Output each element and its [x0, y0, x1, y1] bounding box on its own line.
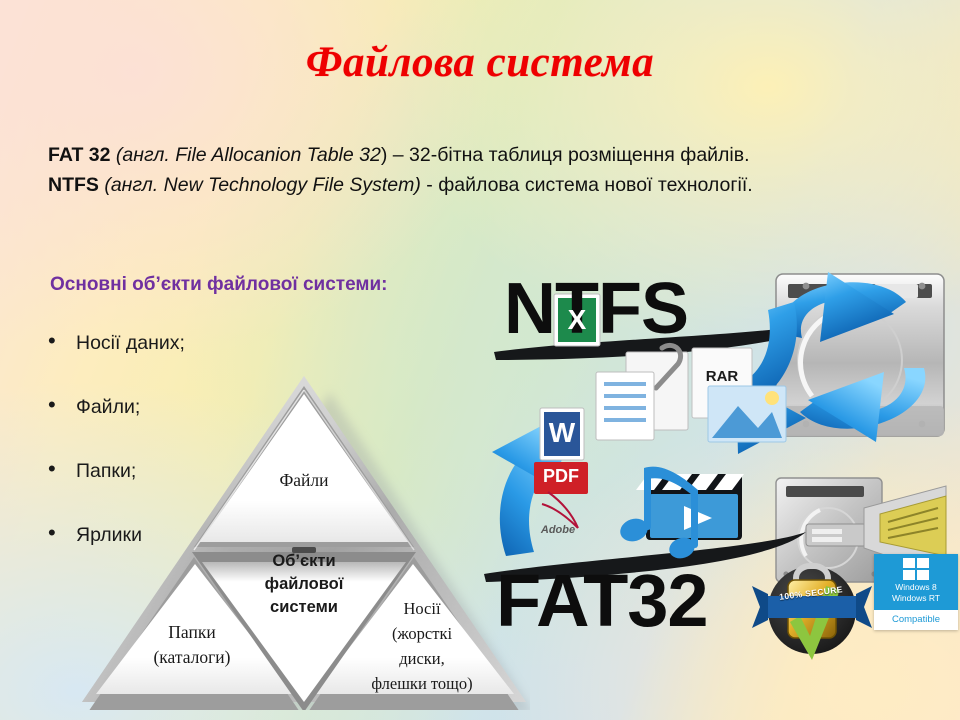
excel-file-icon-label: X: [558, 300, 596, 340]
fat32-term: FAT 32: [48, 144, 111, 166]
adobe-mark-icon: [542, 492, 578, 528]
adobe-file-icon-label: Adobe: [528, 524, 588, 536]
word-file-icon-label: W: [544, 414, 580, 452]
bullet-label: Носії даних;: [76, 332, 185, 354]
windows-badge-footer: Compatible: [874, 610, 958, 630]
pyramid-notch: [292, 547, 316, 553]
windows-badge-top: Windows 8 Windows RT: [874, 554, 958, 610]
rar-archive-icon-label: RAR: [696, 368, 748, 385]
definition-fat32: FAT 32 (англ. File Allocanion Table 32) …: [48, 140, 928, 170]
page-title: Файлова система: [0, 38, 960, 87]
slide-canvas: Файлова система FAT 32 (англ. File Alloc…: [0, 0, 960, 720]
pyramid-diagram: Файли Об’єкти файлової системи Папки (ка…: [78, 372, 530, 710]
windows-badge-line2: Windows RT: [874, 593, 958, 604]
fat32-logo-text: FAT32: [496, 558, 708, 643]
ntfs-term: NTFS: [48, 174, 99, 196]
fat32-description: – 32-бітна таблиця розміщення файлів.: [387, 144, 749, 166]
definition-ntfs: NTFS (англ. New Technology File System) …: [48, 170, 928, 200]
windows-compatible-badge: Windows 8 Windows RT Compatible: [874, 554, 958, 630]
pdf-file-icon-label: PDF: [534, 466, 588, 487]
section-subheading: Основні об’єкти файлової системи:: [50, 274, 387, 296]
definitions-block: FAT 32 (англ. File Allocanion Table 32) …: [48, 140, 928, 200]
windows-flag-icon: [903, 558, 929, 580]
ntfs-expansion: (англ. New Technology File System): [104, 174, 421, 196]
fat32-expansion: (англ. File Allocanion Table 32: [116, 144, 381, 166]
ntfs-description: - файлова система нової технології.: [421, 174, 753, 196]
filesystem-artwork: NTFS FAT32 100% SECURE X RAR W PDF Adobe…: [476, 256, 960, 688]
windows-badge-line1: Windows 8: [874, 582, 958, 593]
